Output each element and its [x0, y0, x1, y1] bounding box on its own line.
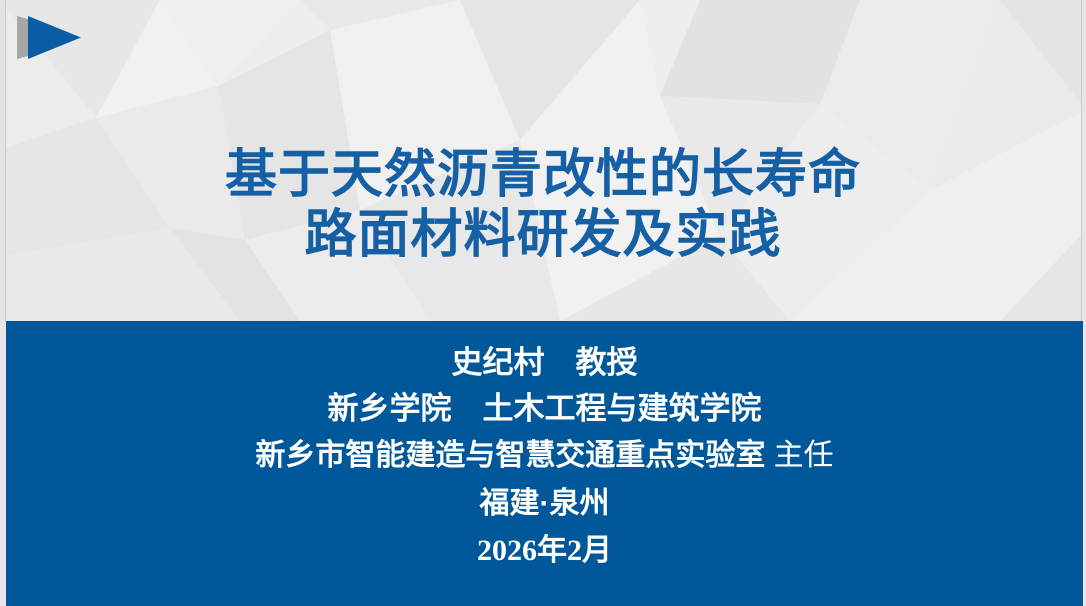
play-triangle-logo-icon	[15, 14, 83, 61]
lab-role: 主任	[765, 439, 833, 472]
presenter-name-and-rank: 史纪村 教授	[6, 341, 1083, 385]
title-slide: 基于天然沥青改性的长寿命 路面材料研发及实践 史纪村 教授 新乡学院 土木工程与…	[0, 0, 1086, 606]
title-line-2: 路面材料研发及实践	[0, 205, 1086, 265]
event-date: 2026年2月	[6, 528, 1083, 575]
presenter-info-block: 史纪村 教授 新乡学院 土木工程与建筑学院 新乡市智能建造与智慧交通重点实验室 …	[6, 321, 1083, 606]
presenter-lab-and-role: 新乡市智能建造与智慧交通重点实验室 主任	[6, 433, 1083, 480]
date-year: 2026	[477, 534, 537, 567]
slide-upper-region: 基于天然沥青改性的长寿命 路面材料研发及实践	[0, 0, 1086, 321]
date-year-suffix: 年	[537, 534, 567, 567]
date-month-suffix: 月	[582, 534, 612, 567]
slide-title: 基于天然沥青改性的长寿命 路面材料研发及实践	[0, 145, 1086, 266]
title-line-1: 基于天然沥青改性的长寿命	[0, 145, 1086, 205]
presenter-affiliation: 新乡学院 土木工程与建筑学院	[6, 385, 1083, 433]
date-month: 2	[567, 534, 582, 567]
event-location: 福建·泉州	[6, 480, 1083, 528]
lab-name: 新乡市智能建造与智慧交通重点实验室	[255, 439, 765, 472]
